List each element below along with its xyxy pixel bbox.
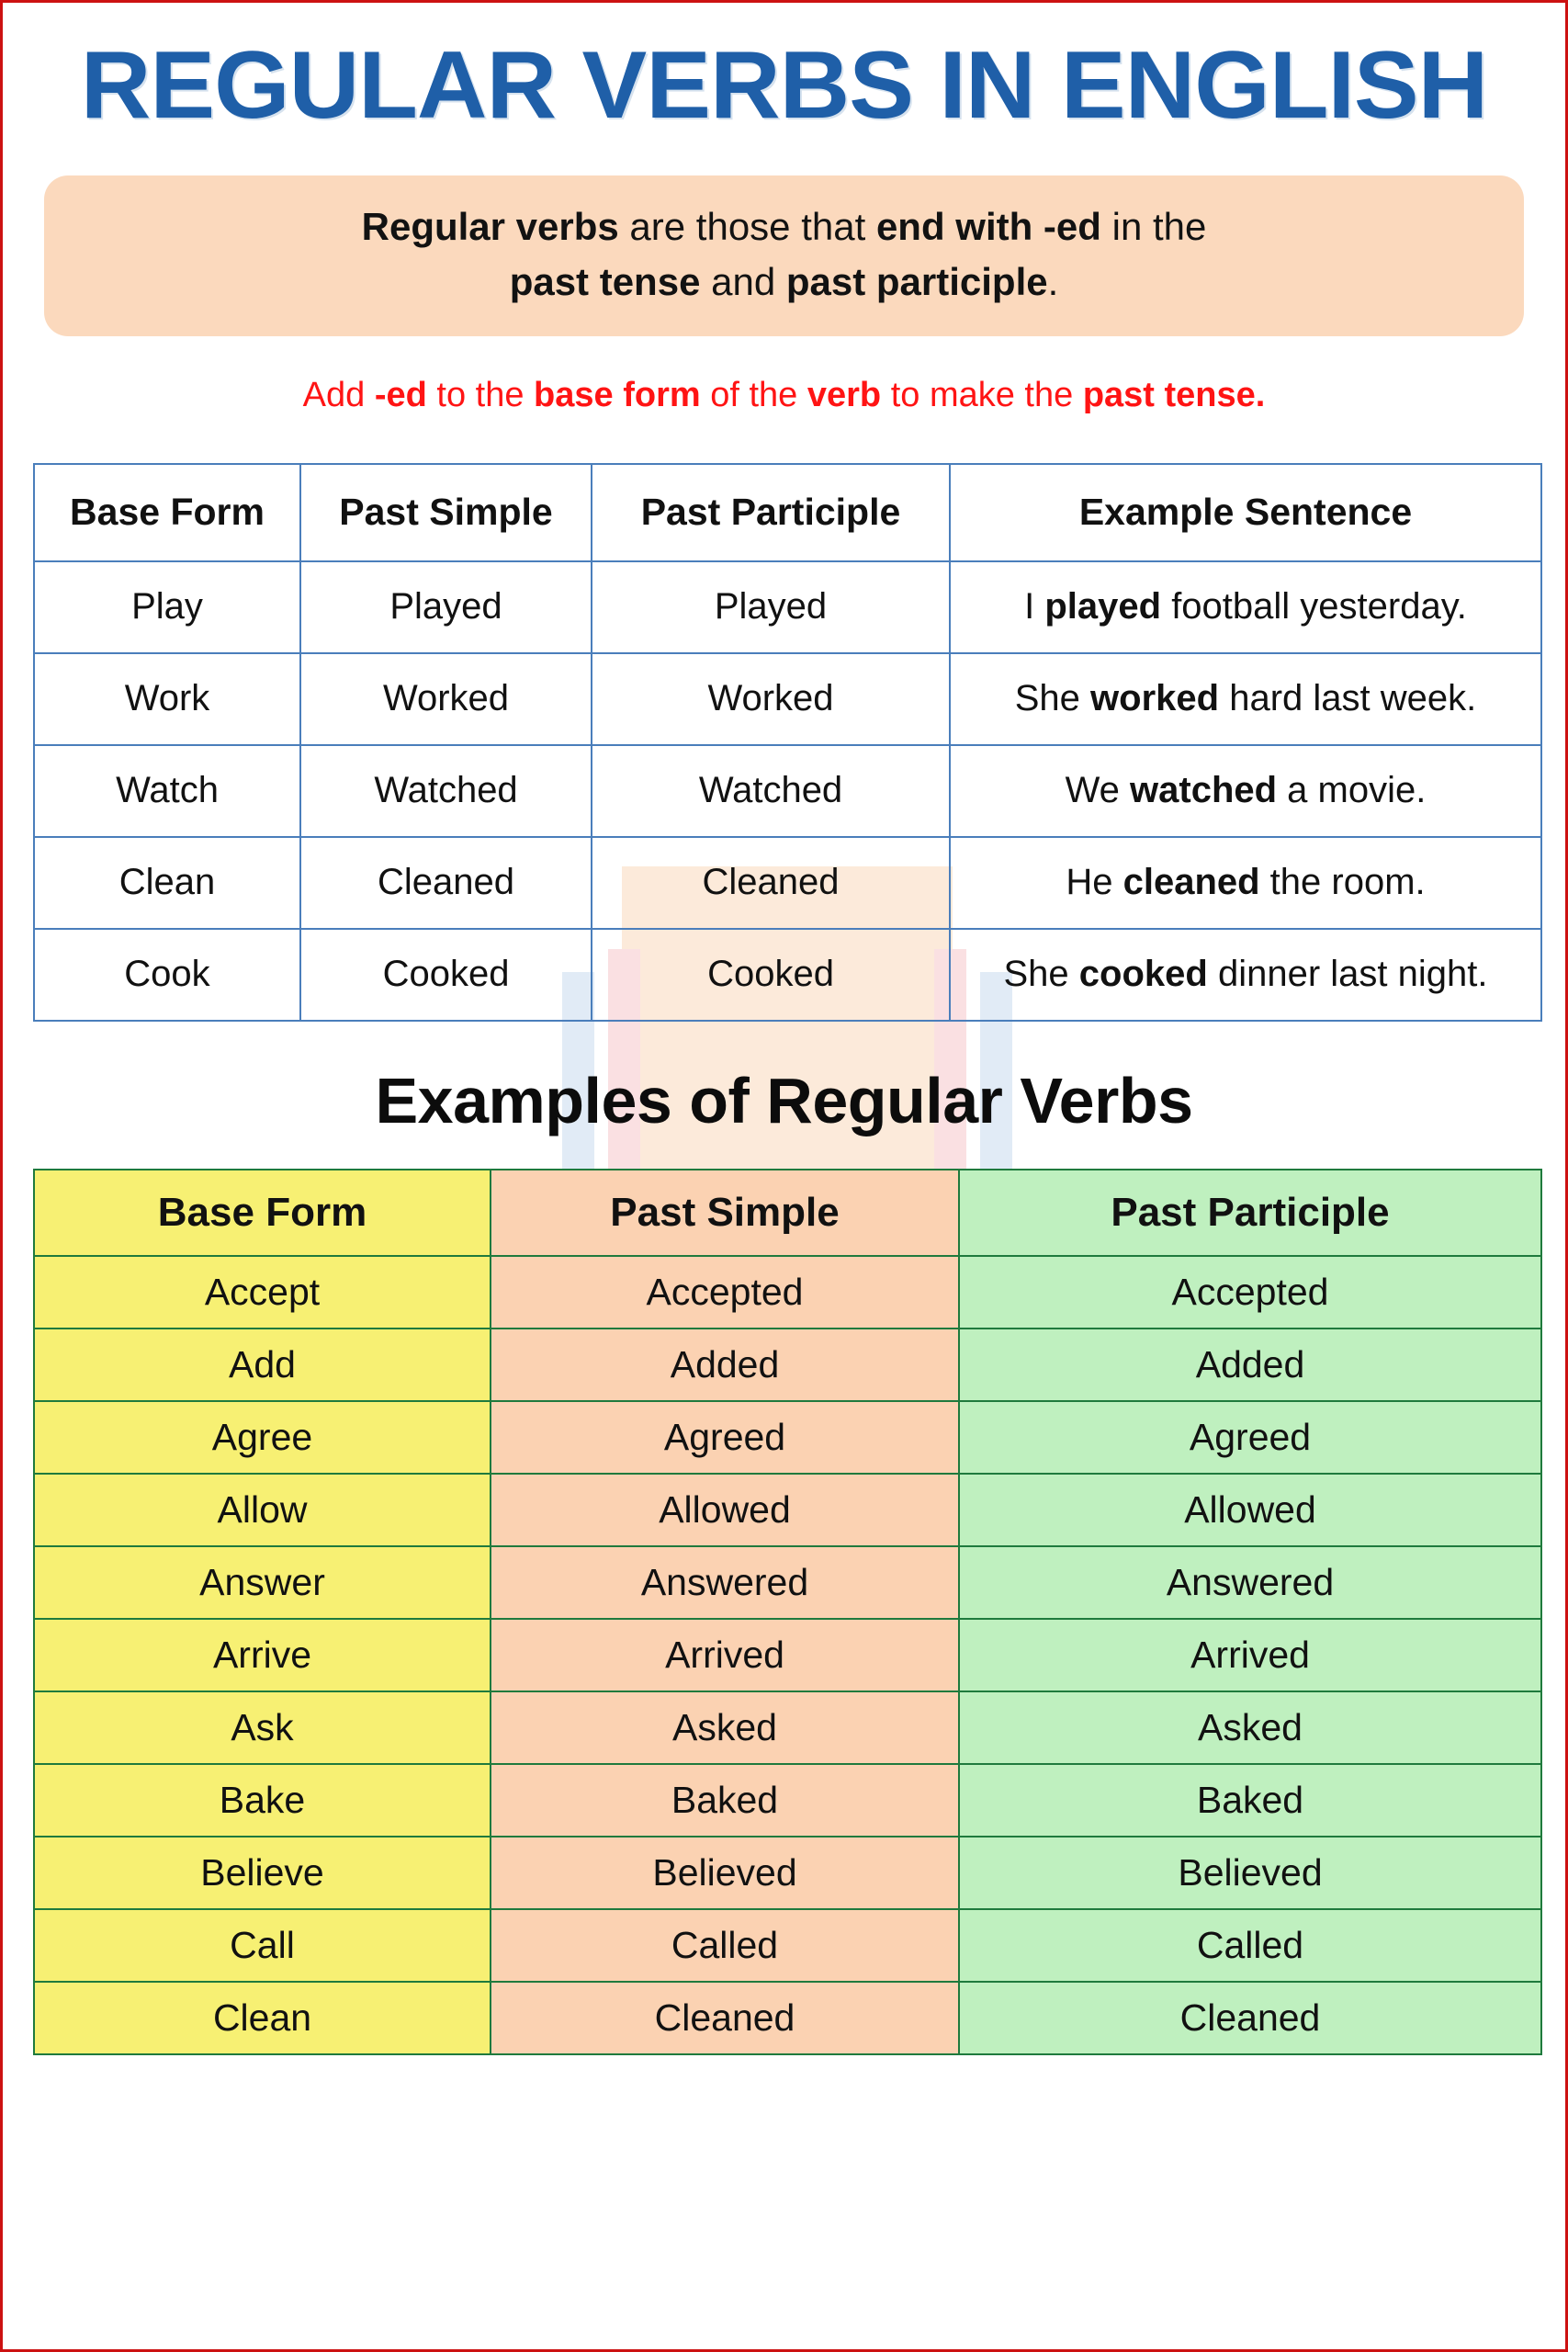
rule-part-ed: -ed: [375, 376, 427, 414]
t1-cell-base: Watch: [34, 745, 300, 837]
t1-cell-sentence: She worked hard last week.: [950, 653, 1541, 745]
table-row: AcceptAcceptedAccepted: [34, 1256, 1541, 1329]
table-row: AllowAllowedAllowed: [34, 1474, 1541, 1546]
t2-cell-past: Added: [491, 1329, 959, 1401]
t2-cell-participle: Allowed: [959, 1474, 1541, 1546]
t1-header-base-form: Base Form: [34, 464, 300, 561]
table-row: CleanCleanedCleaned: [34, 1982, 1541, 2054]
t1-header-past-participle: Past Participle: [592, 464, 950, 561]
t1-header-example-sentence: Example Sentence: [950, 464, 1541, 561]
table-row: Work Worked Worked She worked hard last …: [34, 653, 1541, 745]
sentence-verb: cooked: [1079, 954, 1208, 994]
t2-cell-base: Add: [34, 1329, 491, 1401]
sentence-pre: We: [1066, 770, 1130, 810]
definition-term-end-with-ed: end with -ed: [876, 205, 1101, 248]
rule-part-verb: verb: [807, 376, 881, 414]
t1-cell-past: Cooked: [300, 929, 592, 1021]
t2-cell-base: Call: [34, 1909, 491, 1982]
t1-cell-base: Work: [34, 653, 300, 745]
table-row: Cook Cooked Cooked She cooked dinner las…: [34, 929, 1541, 1021]
definition-term-past-tense: past tense: [510, 260, 701, 303]
t1-cell-past: Watched: [300, 745, 592, 837]
table-row: AddAddedAdded: [34, 1329, 1541, 1401]
t2-cell-past: Agreed: [491, 1401, 959, 1474]
t2-cell-past: Arrived: [491, 1619, 959, 1691]
t2-cell-past: Called: [491, 1909, 959, 1982]
table-row: AnswerAnsweredAnswered: [34, 1546, 1541, 1619]
t1-cell-participle: Watched: [592, 745, 950, 837]
t1-cell-base: Cook: [34, 929, 300, 1021]
t2-cell-base: Arrive: [34, 1619, 491, 1691]
table-row: AgreeAgreedAgreed: [34, 1401, 1541, 1474]
sentence-pre: She: [1015, 678, 1090, 718]
definition-text-a: are those that: [619, 205, 876, 248]
table-row: BakeBakedBaked: [34, 1764, 1541, 1837]
t2-header-base-form: Base Form: [34, 1170, 491, 1256]
t2-cell-past: Allowed: [491, 1474, 959, 1546]
section-heading: Examples of Regular Verbs: [3, 1064, 1565, 1137]
t2-cell-base: Allow: [34, 1474, 491, 1546]
sentence-post: dinner last night.: [1208, 954, 1488, 994]
rule-statement: Add -ed to the base form of the verb to …: [3, 375, 1565, 417]
t2-cell-participle: Cleaned: [959, 1982, 1541, 2054]
t2-cell-participle: Called: [959, 1909, 1541, 1982]
regular-verbs-list-table-wrapper: Base Form Past Simple Past Participle Ac…: [33, 1169, 1535, 2055]
table-header-row: Base Form Past Simple Past Participle: [34, 1170, 1541, 1256]
sentence-verb: played: [1044, 586, 1161, 627]
t2-cell-past: Baked: [491, 1764, 959, 1837]
examples-with-sentences-table-wrapper: Base Form Past Simple Past Participle Ex…: [33, 463, 1535, 1022]
definition-text-c: and: [700, 260, 785, 303]
t2-cell-participle: Answered: [959, 1546, 1541, 1619]
t1-cell-participle: Worked: [592, 653, 950, 745]
t2-cell-base: Clean: [34, 1982, 491, 2054]
t1-cell-participle: Cleaned: [592, 837, 950, 929]
sentence-post: the room.: [1260, 862, 1426, 902]
t2-cell-participle: Arrived: [959, 1619, 1541, 1691]
rule-part-7: to make the: [881, 376, 1083, 414]
t2-cell-past: Accepted: [491, 1256, 959, 1329]
definition-line1: Regular verbs are those that end with -e…: [362, 205, 1207, 248]
rule-part-base-form: base form: [534, 376, 701, 414]
t1-cell-participle: Played: [592, 561, 950, 653]
t1-cell-past: Cleaned: [300, 837, 592, 929]
t2-cell-participle: Agreed: [959, 1401, 1541, 1474]
t2-header-past-participle: Past Participle: [959, 1170, 1541, 1256]
verb-examples-table: Base Form Past Simple Past Participle Ex…: [33, 463, 1542, 1022]
definition-banner: Regular verbs are those that end with -e…: [44, 175, 1524, 336]
sentence-post: football yesterday.: [1161, 586, 1467, 627]
t2-cell-participle: Believed: [959, 1837, 1541, 1909]
t2-header-past-simple: Past Simple: [491, 1170, 959, 1256]
table-header-row: Base Form Past Simple Past Participle Ex…: [34, 464, 1541, 561]
table-row: Clean Cleaned Cleaned He cleaned the roo…: [34, 837, 1541, 929]
t1-cell-past: Played: [300, 561, 592, 653]
page-title: REGULAR VERBS IN ENGLISH: [0, 38, 1568, 133]
t1-cell-base: Play: [34, 561, 300, 653]
sentence-post: a movie.: [1277, 770, 1426, 810]
t2-cell-participle: Accepted: [959, 1256, 1541, 1329]
sentence-verb: worked: [1090, 678, 1219, 718]
t2-cell-base: Bake: [34, 1764, 491, 1837]
table-row: CallCalledCalled: [34, 1909, 1541, 1982]
t2-cell-base: Believe: [34, 1837, 491, 1909]
regular-verbs-list-table: Base Form Past Simple Past Participle Ac…: [33, 1169, 1542, 2055]
t1-cell-base: Clean: [34, 837, 300, 929]
t2-cell-participle: Baked: [959, 1764, 1541, 1837]
t2-cell-past: Cleaned: [491, 1982, 959, 2054]
table-row: AskAskedAsked: [34, 1691, 1541, 1764]
t2-cell-participle: Asked: [959, 1691, 1541, 1764]
t2-cell-participle: Added: [959, 1329, 1541, 1401]
definition-line2: past tense and past participle.: [510, 260, 1059, 303]
t1-header-past-simple: Past Simple: [300, 464, 592, 561]
definition-text-d: .: [1048, 260, 1059, 303]
t2-cell-past: Answered: [491, 1546, 959, 1619]
t2-cell-base: Accept: [34, 1256, 491, 1329]
definition-term-past-participle: past participle: [786, 260, 1048, 303]
t1-cell-sentence: She cooked dinner last night.: [950, 929, 1541, 1021]
t1-cell-sentence: I played football yesterday.: [950, 561, 1541, 653]
t1-cell-sentence: We watched a movie.: [950, 745, 1541, 837]
sentence-pre: I: [1024, 586, 1044, 627]
t2-cell-base: Answer: [34, 1546, 491, 1619]
rule-part-3: to the: [427, 376, 534, 414]
sentence-verb: watched: [1130, 770, 1277, 810]
table-row: Play Played Played I played football yes…: [34, 561, 1541, 653]
definition-text-b: in the: [1101, 205, 1206, 248]
sentence-post: hard last week.: [1219, 678, 1476, 718]
rule-part-past-tense: past tense.: [1083, 376, 1266, 414]
t1-cell-participle: Cooked: [592, 929, 950, 1021]
t2-cell-base: Agree: [34, 1401, 491, 1474]
table-row: ArriveArrivedArrived: [34, 1619, 1541, 1691]
rule-part-5: of the: [701, 376, 807, 414]
sentence-verb: cleaned: [1123, 862, 1260, 902]
rule-part-1: Add: [303, 376, 375, 414]
poster-page: VOCABISH REGULAR VERBS IN ENGLISH Regula…: [0, 0, 1568, 2352]
definition-term-regular-verbs: Regular verbs: [362, 205, 619, 248]
t1-cell-past: Worked: [300, 653, 592, 745]
sentence-pre: She: [1004, 954, 1079, 994]
table-row: BelieveBelievedBelieved: [34, 1837, 1541, 1909]
t2-cell-past: Believed: [491, 1837, 959, 1909]
t1-cell-sentence: He cleaned the room.: [950, 837, 1541, 929]
table-row: Watch Watched Watched We watched a movie…: [34, 745, 1541, 837]
t2-cell-past: Asked: [491, 1691, 959, 1764]
sentence-pre: He: [1066, 862, 1122, 902]
t2-cell-base: Ask: [34, 1691, 491, 1764]
